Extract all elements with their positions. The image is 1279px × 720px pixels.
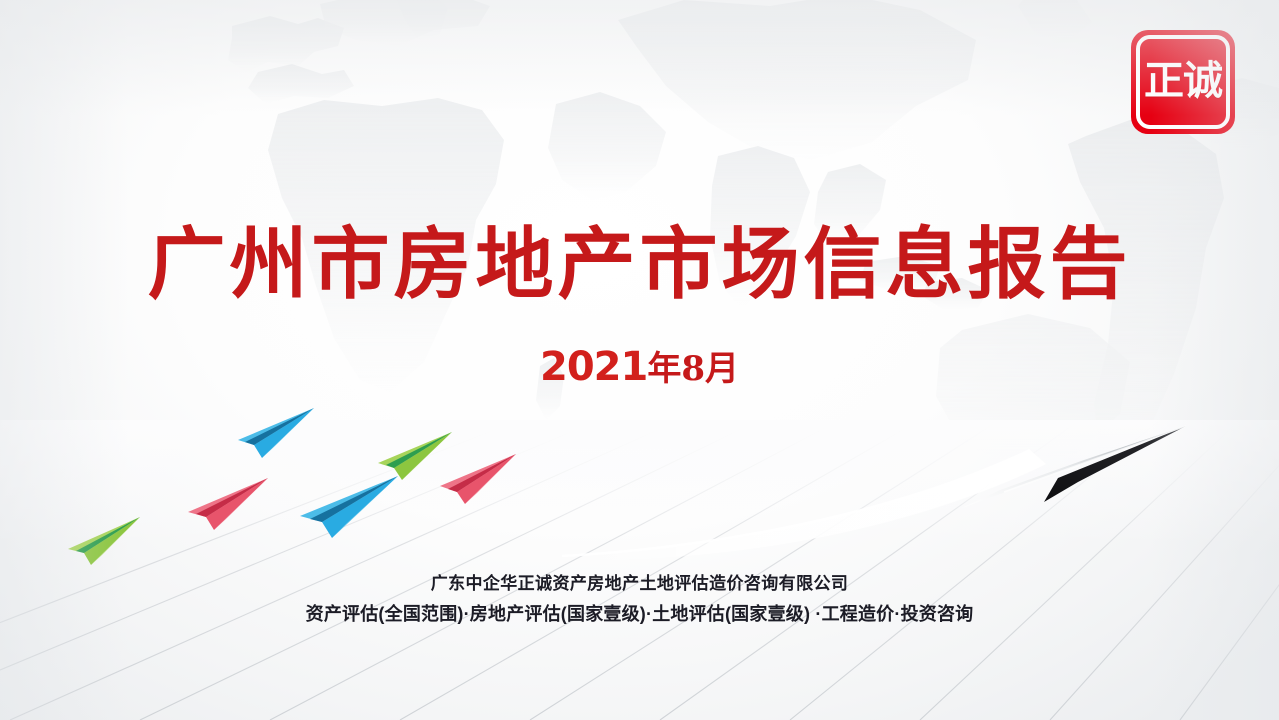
edge-vignette — [0, 0, 1279, 720]
title-slide: 广州市房地产市场信息报告 2021年8月 正诚 广东中企华正诚资产房地产土地评估… — [0, 0, 1279, 720]
